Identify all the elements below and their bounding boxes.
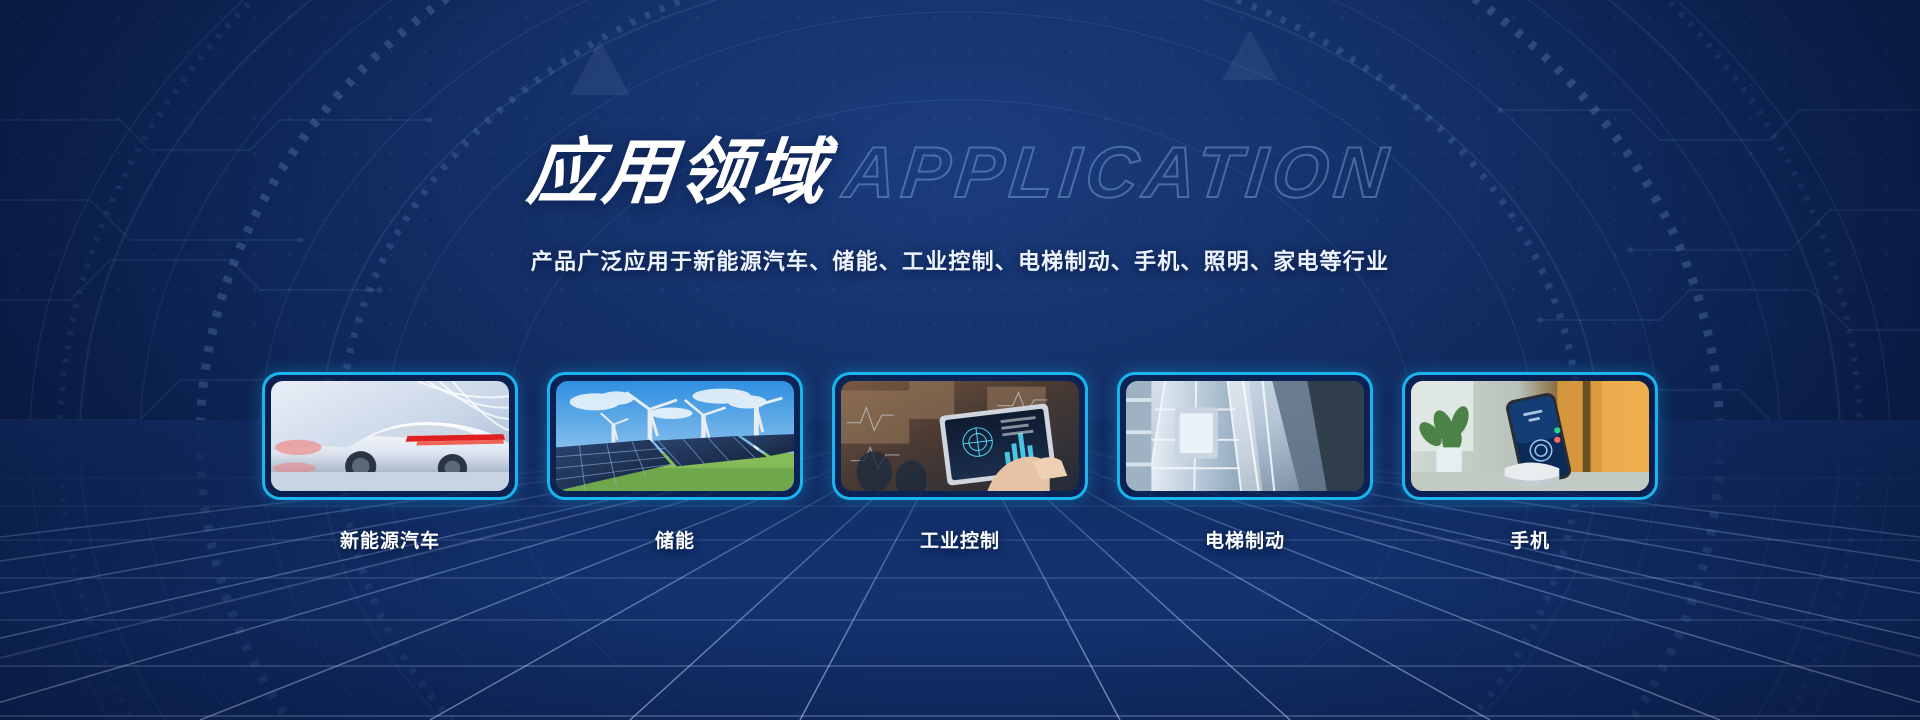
card-frame[interactable]: [832, 372, 1088, 500]
card-label: 工业控制: [920, 526, 1000, 553]
application-card[interactable]: 手机: [1402, 372, 1658, 553]
application-card[interactable]: 储能: [547, 372, 803, 553]
electric-sports-car-photo: [271, 381, 509, 491]
page-title: 应用领域: [524, 137, 832, 209]
card-label: 储能: [655, 526, 695, 553]
card-frame[interactable]: [1117, 372, 1373, 500]
page-title-english: APPLICATION: [840, 137, 1396, 209]
application-card[interactable]: 新能源汽车: [262, 372, 518, 553]
application-card-list: 新能源汽车: [0, 372, 1920, 553]
application-card[interactable]: 电梯制动: [1117, 372, 1373, 553]
card-frame[interactable]: [1402, 372, 1658, 500]
application-banner: 应用领域 APPLICATION 产品广泛应用于新能源汽车、储能、工业控制、电梯…: [0, 0, 1920, 720]
card-frame[interactable]: [547, 372, 803, 500]
industrial-tablet-control-photo: [841, 381, 1079, 491]
card-frame[interactable]: [262, 372, 518, 500]
banner-heading-block: 应用领域 APPLICATION 产品广泛应用于新能源汽车、储能、工业控制、电梯…: [0, 0, 1920, 276]
title-row: 应用领域 APPLICATION: [0, 118, 1920, 228]
card-label: 新能源汽车: [340, 526, 440, 553]
smartphone-wireless-charger-photo: [1411, 381, 1649, 491]
page-subtitle: 产品广泛应用于新能源汽车、储能、工业控制、电梯制动、手机、照明、家电等行业: [0, 244, 1920, 276]
card-label: 手机: [1510, 526, 1550, 553]
card-label: 电梯制动: [1205, 526, 1285, 553]
glass-elevator-shaft-photo: [1126, 381, 1364, 491]
application-card[interactable]: 工业控制: [832, 372, 1088, 553]
solar-panels-wind-turbines-photo: [556, 381, 794, 491]
